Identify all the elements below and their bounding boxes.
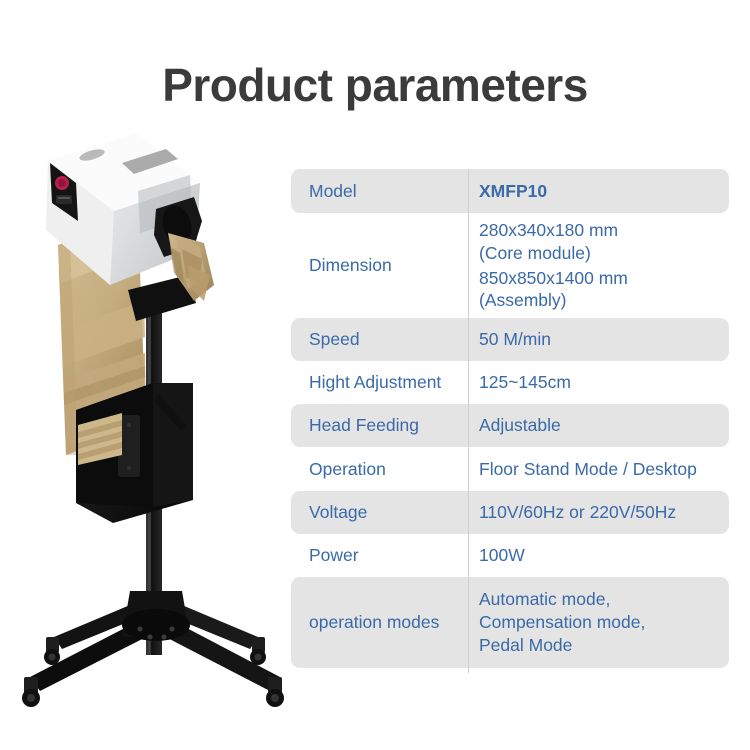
spec-value-line: 110V/60Hz or 220V/50Hz: [479, 501, 723, 524]
spec-value-line: 100W: [479, 544, 723, 567]
table-row: Dimension280x340x180 mm(Core module)850x…: [291, 213, 729, 318]
product-photo: [18, 125, 290, 710]
spec-label: Voltage: [291, 491, 469, 534]
spec-label: Hight Adjustment: [291, 361, 469, 404]
spec-label: operation modes: [291, 577, 469, 668]
spec-value: XMFP10: [469, 169, 729, 213]
spec-value: 110V/60Hz or 220V/50Hz: [469, 491, 729, 534]
spec-value-line: Compensation mode,: [479, 611, 723, 634]
product-parameters-page: Product parameters: [0, 0, 750, 750]
spec-label: Power: [291, 534, 469, 577]
spec-value-line: Automatic mode,: [479, 588, 723, 611]
spec-value-line: Adjustable: [479, 414, 723, 437]
spec-value-line: Floor Stand Mode / Desktop: [479, 458, 723, 481]
caster-wheel: [22, 677, 40, 707]
spec-value-line: 280x340x180 mm: [479, 219, 723, 242]
spec-value-line: 125~145cm: [479, 371, 723, 394]
spec-value-line: 50 M/min: [479, 328, 723, 351]
control-switch[interactable]: [56, 195, 72, 204]
spec-value-line: (Core module): [479, 242, 723, 265]
spec-value: Floor Stand Mode / Desktop: [469, 447, 729, 491]
product-photo-illustration: [18, 125, 290, 710]
page-title: Product parameters: [0, 58, 750, 112]
spec-value: 125~145cm: [469, 361, 729, 404]
spec-table: ModelXMFP10Dimension280x340x180 mm(Core …: [291, 169, 729, 668]
spec-value: 280x340x180 mm(Core module)850x850x1400 …: [469, 213, 729, 318]
spec-value: 100W: [469, 534, 729, 577]
table-row: Hight Adjustment125~145cm: [291, 361, 729, 404]
table-row: ModelXMFP10: [291, 169, 729, 213]
table-row: Head FeedingAdjustable: [291, 404, 729, 447]
spec-label: Head Feeding: [291, 404, 469, 447]
caster-wheel: [266, 677, 284, 707]
spec-label: Operation: [291, 447, 469, 491]
caster-wheel: [44, 637, 60, 665]
table-row: Speed50 M/min: [291, 318, 729, 361]
spec-label: Dimension: [291, 213, 469, 318]
table-row: operation modesAutomatic mode,Compensati…: [291, 577, 729, 668]
spec-value: Automatic mode,Compensation mode,Pedal M…: [469, 577, 729, 668]
table-row: Power100W: [291, 534, 729, 577]
spec-value: 50 M/min: [469, 318, 729, 361]
spec-value-line: Pedal Mode: [479, 634, 723, 657]
spec-label: Speed: [291, 318, 469, 361]
caster-wheel: [250, 637, 266, 665]
spec-value: Adjustable: [469, 404, 729, 447]
spec-value-line: (Assembly): [479, 289, 723, 312]
spec-value-line: 850x850x1400 mm: [479, 267, 723, 290]
table-row: OperationFloor Stand Mode / Desktop: [291, 447, 729, 491]
spec-label: Model: [291, 169, 469, 213]
table-row: Voltage110V/60Hz or 220V/50Hz: [291, 491, 729, 534]
table-column-divider: [468, 169, 469, 673]
spec-value-line: XMFP10: [479, 180, 723, 203]
